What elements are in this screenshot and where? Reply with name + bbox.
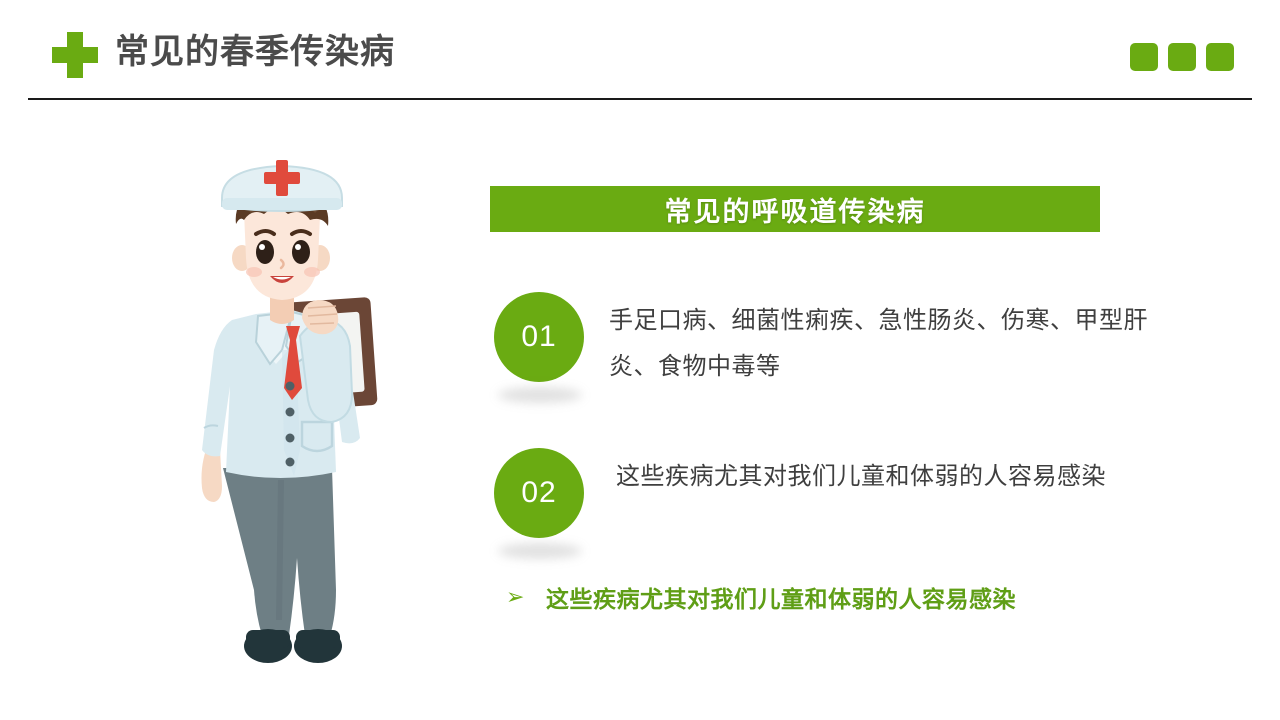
header-decor-squares	[1130, 43, 1234, 71]
badge-shadow	[498, 543, 582, 559]
main-content: 常见的呼吸道传染病 01 手足口病、细菌性痢疾、急性肠炎、伤寒、甲型肝炎、食物中…	[490, 186, 1150, 614]
header-divider-line	[28, 98, 1252, 100]
section-banner: 常见的呼吸道传染病	[490, 186, 1100, 232]
cartoon-doctor-illustration	[160, 150, 420, 690]
list-item-badge-wrap: 01	[490, 292, 584, 388]
list-item-text: 手足口病、细菌性痢疾、急性肠炎、伤寒、甲型肝炎、食物中毒等	[584, 292, 1150, 390]
list-item: 02 这些疾病尤其对我们儿童和体弱的人容易感染	[490, 448, 1150, 544]
cross-vertical-bar	[67, 32, 83, 78]
arrow-bullet-icon: ➢	[506, 586, 532, 608]
list-item-text: 这些疾病尤其对我们儿童和体弱的人容易感染	[584, 448, 1150, 500]
badge-shadow	[498, 387, 582, 403]
slide-header: 常见的春季传染病	[0, 0, 1280, 100]
list-item-badge-wrap: 02	[490, 448, 584, 544]
highlight-bullet: ➢ 这些疾病尤其对我们儿童和体弱的人容易感染	[490, 580, 1150, 614]
decor-square-1	[1130, 43, 1158, 71]
list-item-number-badge: 01	[494, 292, 584, 382]
list-item-number-badge: 02	[494, 448, 584, 538]
medical-cross-icon	[52, 32, 98, 78]
page-title: 常见的春季传染病	[115, 26, 395, 78]
list-item: 01 手足口病、细菌性痢疾、急性肠炎、伤寒、甲型肝炎、食物中毒等	[490, 292, 1150, 390]
highlight-bullet-text: 这些疾病尤其对我们儿童和体弱的人容易感染	[546, 580, 1016, 614]
decor-square-3	[1206, 43, 1234, 71]
decor-square-2	[1168, 43, 1196, 71]
slide-root: 常见的春季传染病	[0, 0, 1280, 720]
section-banner-label: 常见的呼吸道传染病	[665, 190, 926, 229]
